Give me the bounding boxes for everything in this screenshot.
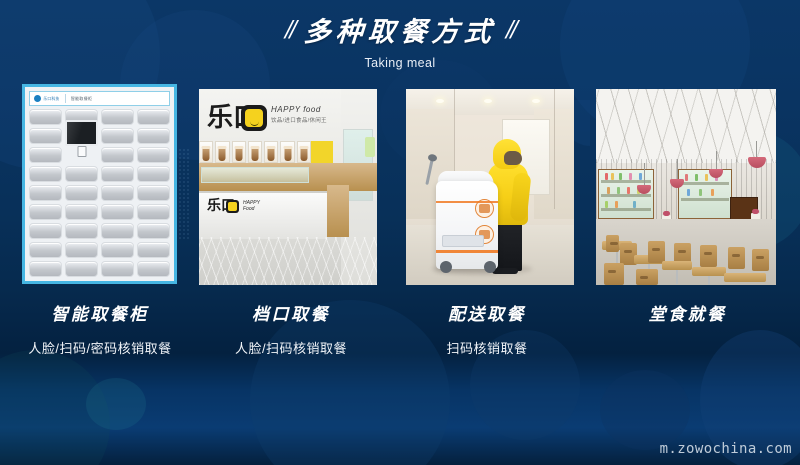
store-desk-logo-en: HAPPY Food [243,200,260,212]
card-reader-icon[interactable] [77,146,86,157]
page-subtitle: Taking meal [0,56,800,70]
locker-cell[interactable] [65,242,98,258]
locker-cell[interactable] [101,147,134,163]
dining-chair [728,247,745,269]
locker-cabinet: 乐口科技 智能取餐柜 [22,84,177,284]
table-leg [708,276,710,285]
title-row: // 多种取餐方式 // [0,10,800,49]
robot-stripe-lower [436,250,498,253]
store-desk-logo-mark-icon [226,200,239,213]
dining-table [692,267,726,276]
screen-display [65,120,98,146]
store-display-case [201,167,309,183]
delivery-scene [406,89,574,285]
panel-row: 乐口科技 智能取餐柜 [0,84,800,294]
store-wall-logo: 乐口 [207,103,263,133]
dining-chair [604,263,624,285]
brand-dot-icon [34,95,41,102]
image-smart-locker: 乐口科技 智能取餐柜 [22,84,177,284]
image-counter-pickup: 乐口 HAPPY food 饮品/进口食品/休闲王 [199,89,377,285]
locker-cell[interactable] [137,185,170,201]
store-menu-board [199,141,311,163]
robot-wheel [484,261,496,273]
ceiling-light-icon [436,99,444,103]
locker-cell[interactable] [101,204,134,220]
ceiling-light-icon [484,99,492,103]
locker-cell-grid [29,109,170,277]
robot-body [436,181,498,269]
canteen-scene [596,89,776,285]
storefront-scene: 乐口 HAPPY food 饮品/进口食品/休闲王 [199,89,377,285]
locker-cell[interactable] [29,185,62,201]
locker-cell[interactable] [29,242,62,258]
caption-subtitle: 人脸/扫码/密码核销取餐 [0,338,200,357]
locker-cell[interactable] [101,223,134,239]
caption-smart-locker: 智能取餐柜 人脸/扫码/密码核销取餐 [0,300,200,357]
dining-chair [648,241,665,263]
robot-stripe-upper [436,201,498,203]
panel-dine-in[interactable] [596,89,776,285]
locker-cell[interactable] [29,223,62,239]
menu-item [199,141,213,163]
store-desk-logo: 乐口 HAPPY Food [207,199,259,215]
locker-cell[interactable] [65,166,98,182]
watermark: m.zowochina.com [660,441,792,457]
ceiling-light-icon [532,99,540,103]
caption-title: 智能取餐柜 [0,300,200,325]
menu-item [264,141,278,163]
caption-subtitle: 人脸/扫码核销取餐 [196,338,386,357]
canteen-window-right [678,169,732,219]
locker-cell[interactable] [29,204,62,220]
locker-cell[interactable] [101,109,134,125]
store-green-sign [365,137,375,157]
locker-cell[interactable] [65,223,98,239]
dining-chair [636,269,658,285]
locker-cell[interactable] [137,204,170,220]
lamp-cord [677,159,678,179]
locker-cell[interactable] [29,109,62,125]
locker-cell[interactable] [137,128,170,144]
store-side-cabinet [327,185,349,237]
canteen-ceiling [596,89,776,163]
panel-counter-pickup[interactable]: 乐口 HAPPY food 饮品/进口食品/休闲王 [199,89,377,285]
courier-shoes [492,268,518,274]
dining-chair [752,249,769,271]
slide-header: // 多种取餐方式 // Taking meal [0,10,800,70]
decor-circle-7 [86,378,146,430]
menu-item [280,141,294,163]
locker-cell[interactable] [29,166,62,182]
locker-cell[interactable] [65,204,98,220]
lamp-cord [716,151,717,169]
locker-cell[interactable] [137,109,170,125]
store-floor [199,237,377,285]
dining-table [724,273,766,282]
image-dine-in [596,89,776,285]
dining-chair [700,245,717,267]
locker-touchscreen[interactable] [65,128,98,144]
drink-icon [203,148,210,161]
locker-cell[interactable] [137,261,170,277]
locker-cell[interactable] [137,242,170,258]
locker-cell[interactable] [137,223,170,239]
image-delivery-pickup [406,89,574,285]
drink-icon [268,148,275,161]
lamp-cord [644,163,645,185]
slash-left-icon: // [285,14,294,45]
menu-item [297,141,311,163]
locker-brand-text: 乐口科技 [43,96,59,102]
table-leg [676,270,678,284]
caption-title: 档口取餐 [196,300,386,325]
panel-delivery-pickup[interactable] [406,89,574,285]
caption-title: 堂食就餐 [590,300,785,325]
courier-legs [496,221,522,271]
locker-cell[interactable] [101,185,134,201]
menu-item [248,141,262,163]
slash-right-icon: // [506,14,515,45]
page-title: 多种取餐方式 [303,10,498,49]
locker-cell[interactable] [101,128,134,144]
canteen-window-left [598,169,654,219]
locker-cell[interactable] [29,261,62,277]
locker-cell[interactable] [65,185,98,201]
decor-circle-11 [600,370,690,450]
caption-row: 智能取餐柜 人脸/扫码/密码核销取餐 档口取餐 人脸/扫码核销取餐 配送取餐 扫… [0,300,800,370]
drink-icon [251,148,258,161]
drink-icon [235,148,242,161]
locker-cell[interactable] [29,128,62,144]
panel-smart-locker[interactable]: 乐口科技 智能取餐柜 [22,84,177,284]
dining-chair [606,235,619,252]
menu-item [232,141,246,163]
caption-delivery-pickup: 配送取餐 扫码核销取餐 [392,300,582,357]
menu-item [215,141,229,163]
caption-title: 配送取餐 [392,300,582,325]
locker-panel-text: 智能取餐柜 [71,96,93,102]
locker-cell[interactable] [137,166,170,182]
caption-dine-in: 堂食就餐 [590,300,785,338]
wall-seam [554,89,555,209]
locker-cell[interactable] [101,242,134,258]
drink-icon [284,148,291,161]
locker-cell[interactable] [29,147,62,163]
store-logo-mark-icon [241,105,267,131]
caption-subtitle: 扫码核销取餐 [392,338,582,357]
locker-brand-logo: 乐口科技 [34,95,60,102]
caption-counter-pickup: 档口取餐 人脸/扫码核销取餐 [196,300,386,357]
robot-control-panel[interactable] [442,235,484,247]
locker-header-bar: 乐口科技 智能取餐柜 [29,91,170,106]
drink-icon [300,148,307,161]
locker-cell[interactable] [101,166,134,182]
courier-arm [510,172,532,222]
slide-canvas: // 多种取餐方式 // Taking meal 乐口科技 智能取餐柜 [0,0,800,465]
store-sign-sub: 饮品/进口食品/休闲王 [271,116,327,124]
divider [65,94,66,103]
robot-wheel [440,261,452,273]
locker-cell[interactable] [101,261,134,277]
lamp-cord [756,141,757,157]
courier-face [504,151,522,165]
store-sign-en: HAPPY food [271,105,321,114]
drink-icon [219,148,226,161]
locker-cell[interactable] [137,147,170,163]
dining-table [662,261,692,270]
locker-cell[interactable] [65,261,98,277]
